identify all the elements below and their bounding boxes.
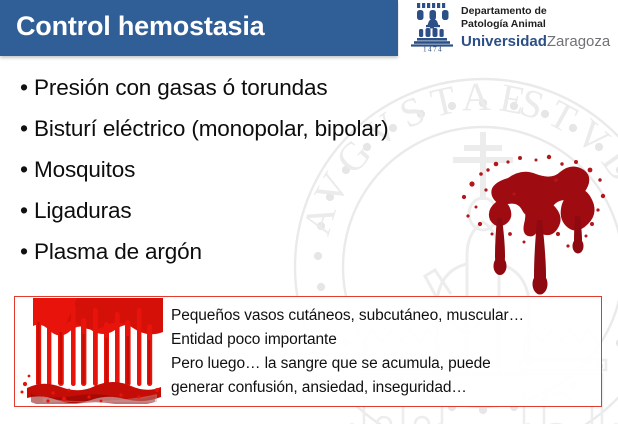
bullet-label: Bisturí eléctrico (monopolar, bipolar)	[34, 116, 388, 142]
bullet-marker-icon: •	[14, 238, 34, 264]
callout-box: Pequeños vasos cutáneos, subcutáneo, mus…	[14, 296, 602, 407]
university-wordmark: UniversidadZaragoza	[461, 33, 617, 50]
bullet-label: Ligaduras	[34, 198, 131, 224]
bullet-marker-icon: •	[14, 115, 34, 141]
list-item: • Presión con gasas ó torundas	[14, 74, 434, 115]
callout-line: Entidad poco importante	[171, 328, 599, 352]
department-line-2: Patología Animal	[461, 18, 617, 31]
bullet-marker-icon: •	[14, 156, 34, 182]
university-logo: 1474 Departamento de Patología Animal Un…	[399, 0, 618, 56]
svg-text:STVDIVM: STVDIVM	[515, 79, 618, 287]
university-light-text: Zaragoza	[547, 33, 610, 50]
seal-year-label: 1474	[423, 46, 443, 52]
callout-text-block: Pequeños vasos cutáneos, subcutáneo, mus…	[171, 304, 599, 400]
list-item: • Ligaduras	[14, 197, 434, 238]
logo-wordmark: Departamento de Patología Animal Univers…	[461, 5, 617, 50]
bullet-list: • Presión con gasas ó torundas • Bisturí…	[14, 74, 434, 279]
callout-line: Pequeños vasos cutáneos, subcutáneo, mus…	[171, 304, 599, 328]
bullet-label: Plasma de argón	[34, 239, 202, 265]
page-title: Control hemostasia	[16, 11, 264, 42]
callout-line: generar confusión, ansiedad, inseguridad…	[171, 376, 599, 400]
callout-line: Pero luego… la sangre que se acumula, pu…	[171, 352, 599, 376]
slide-title-bar: Control hemostasia	[0, 0, 398, 56]
universidad-zaragoza-seal-icon: 1474	[404, 2, 462, 52]
list-item: • Bisturí eléctrico (monopolar, bipolar)	[14, 115, 434, 156]
university-strong-text: Universidad	[461, 33, 547, 50]
bullet-label: Mosquitos	[34, 157, 135, 183]
slide-canvas: AVGVSTAE STVDIVM	[0, 0, 618, 424]
blood-drip-photo	[17, 298, 163, 404]
bullet-marker-icon: •	[14, 197, 34, 223]
blood-splatter-graphic	[450, 150, 610, 295]
list-item: • Plasma de argón	[14, 238, 434, 279]
list-item: • Mosquitos	[14, 156, 434, 197]
bullet-label: Presión con gasas ó torundas	[34, 75, 328, 101]
department-line-1: Departamento de	[461, 5, 617, 18]
bullet-marker-icon: •	[14, 74, 34, 100]
